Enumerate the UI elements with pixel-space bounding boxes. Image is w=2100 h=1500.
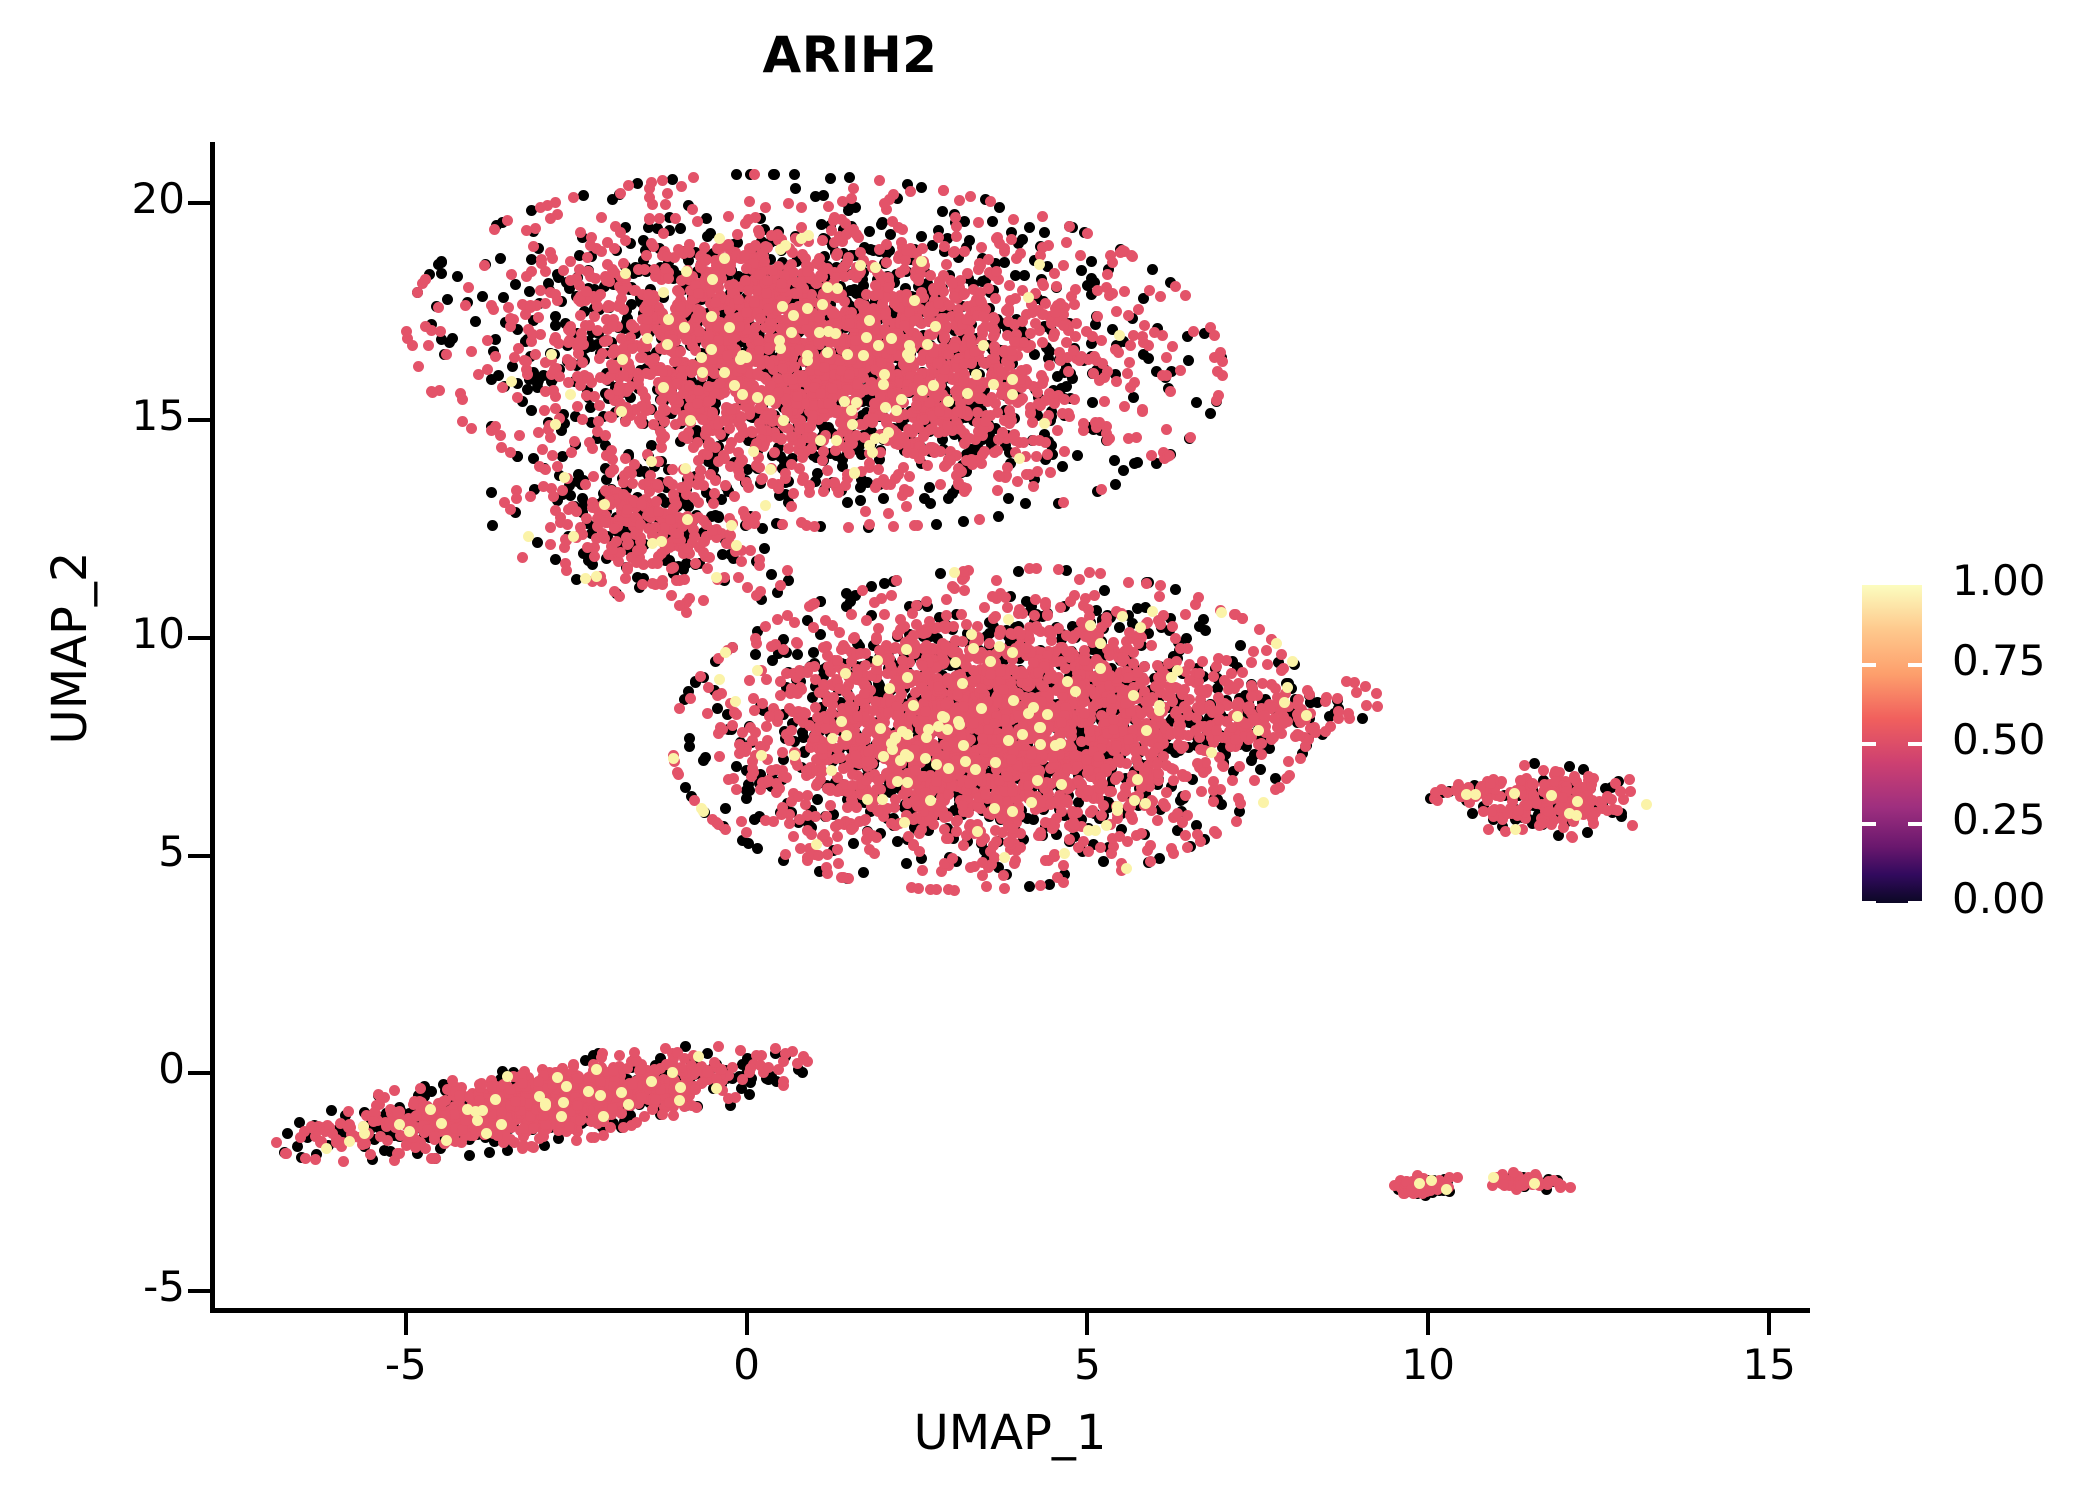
scatter-point	[739, 250, 750, 261]
scatter-point	[635, 519, 646, 530]
scatter-point	[1128, 392, 1139, 403]
scatter-point	[670, 213, 681, 224]
scatter-points-layer	[215, 142, 1810, 1308]
scatter-point	[1008, 432, 1019, 443]
scatter-point	[693, 288, 704, 299]
scatter-point	[855, 260, 866, 271]
scatter-point	[584, 320, 595, 331]
scatter-point	[749, 705, 760, 716]
scatter-point	[658, 228, 669, 239]
scatter-point	[886, 333, 897, 344]
scatter-point	[587, 443, 598, 454]
scatter-point	[742, 582, 753, 593]
scatter-point	[1175, 365, 1186, 376]
scatter-point	[700, 255, 711, 266]
scatter-point	[688, 172, 699, 183]
scatter-point	[651, 496, 662, 507]
scatter-point	[547, 450, 558, 461]
scatter-point	[943, 349, 954, 360]
scatter-point	[1003, 493, 1014, 504]
scatter-point	[905, 186, 916, 197]
scatter-point	[765, 464, 776, 475]
scatter-point	[1007, 374, 1018, 385]
scatter-point	[959, 246, 970, 257]
scatter-point	[786, 431, 797, 442]
scatter-point	[427, 387, 438, 398]
scatter-point	[702, 563, 713, 574]
scatter-point	[577, 357, 588, 368]
scatter-point	[618, 477, 629, 488]
scatter-point	[823, 201, 834, 212]
scatter-point	[766, 230, 777, 241]
scatter-point	[1082, 228, 1093, 239]
scatter-point	[747, 427, 758, 438]
scatter-point	[883, 282, 894, 293]
scatter-point	[596, 246, 607, 257]
scatter-point	[575, 227, 586, 238]
scatter-point	[675, 223, 686, 234]
scatter-point	[754, 228, 765, 239]
scatter-point	[972, 826, 983, 837]
scatter-point	[658, 287, 669, 298]
scatter-point	[1039, 227, 1050, 238]
scatter-point	[687, 204, 698, 215]
scatter-point	[947, 278, 958, 289]
scatter-point	[1052, 425, 1063, 436]
scatter-point	[586, 232, 597, 243]
scatter-point	[596, 212, 607, 223]
scatter-point	[1008, 214, 1019, 225]
scatter-point	[1185, 432, 1196, 443]
scatter-point	[880, 402, 891, 413]
scatter-point	[660, 199, 671, 210]
scatter-point	[843, 522, 854, 533]
scatter-point	[517, 552, 528, 563]
scatter-point	[819, 362, 830, 373]
scatter-point	[974, 514, 985, 525]
scatter-point	[822, 347, 833, 358]
scatter-point	[954, 195, 965, 206]
umap-feature-plot: ARIH2 20151050-5 -5051015 UMAP_1 UMAP_2 …	[0, 0, 2100, 1500]
scatter-point	[792, 391, 803, 402]
scatter-point	[822, 282, 833, 293]
scatter-point	[589, 551, 600, 562]
scatter-point	[1248, 646, 1259, 657]
scatter-point	[844, 172, 855, 183]
scatter-point	[452, 271, 463, 282]
scatter-point	[685, 415, 696, 426]
scatter-point	[1212, 366, 1223, 377]
scatter-point	[1157, 370, 1168, 381]
scatter-point	[707, 407, 718, 418]
scatter-point	[561, 565, 572, 576]
scatter-point	[1058, 497, 1069, 508]
scatter-point	[978, 340, 989, 351]
scatter-point	[632, 178, 643, 189]
plot-title: ARIH2	[0, 26, 1700, 84]
scatter-point	[593, 416, 604, 427]
scatter-point	[535, 202, 546, 213]
scatter-point	[1129, 377, 1140, 388]
scatter-point	[713, 512, 724, 523]
scatter-point	[636, 401, 647, 412]
scatter-point	[985, 196, 996, 207]
scatter-point	[874, 175, 885, 186]
scatter-point	[1048, 331, 1059, 342]
scatter-point	[1018, 437, 1029, 448]
scatter-point	[550, 403, 561, 414]
scatter-point	[932, 358, 943, 369]
scatter-point	[994, 202, 1005, 213]
scatter-point	[775, 343, 786, 354]
scatter-point	[620, 235, 631, 246]
scatter-point	[743, 482, 754, 493]
scatter-point	[839, 271, 850, 282]
scatter-point	[466, 346, 477, 357]
scatter-point	[722, 350, 733, 361]
scatter-point	[968, 643, 979, 654]
scatter-point	[1128, 690, 1139, 701]
scatter-point	[528, 241, 539, 252]
scatter-point	[420, 274, 431, 285]
scatter-point	[590, 273, 601, 284]
scatter-point	[822, 465, 833, 476]
scatter-point	[609, 243, 620, 254]
scatter-point	[817, 271, 828, 282]
scatter-point	[488, 304, 499, 315]
scatter-point	[958, 516, 969, 527]
scatter-point	[841, 730, 852, 741]
scatter-point	[775, 580, 786, 591]
scatter-point	[864, 519, 875, 530]
scatter-point	[1076, 265, 1087, 276]
scatter-point	[1092, 311, 1103, 322]
scatter-point	[927, 442, 938, 453]
scatter-point	[1102, 435, 1113, 446]
scatter-point	[1021, 469, 1032, 480]
scatter-point	[1094, 417, 1105, 428]
scatter-point	[992, 485, 1003, 496]
scatter-point	[941, 259, 952, 270]
scatter-point	[662, 339, 673, 350]
scatter-point	[851, 397, 862, 408]
scatter-point	[912, 420, 923, 431]
scatter-point	[1170, 281, 1181, 292]
scatter-point	[830, 445, 841, 456]
scatter-point	[550, 419, 561, 430]
scatter-point	[656, 428, 667, 439]
scatter-point	[673, 244, 684, 255]
scatter-point	[817, 455, 828, 466]
scatter-point	[1144, 285, 1155, 296]
scatter-point	[657, 175, 668, 186]
scatter-point	[842, 497, 853, 508]
scatter-point	[726, 437, 737, 448]
scatter-point	[763, 303, 774, 314]
scatter-point	[1304, 689, 1315, 700]
scatter-point	[959, 288, 970, 299]
scatter-point	[602, 335, 613, 346]
scatter-point	[670, 528, 681, 539]
scatter-point	[1028, 481, 1039, 492]
scatter-point	[879, 198, 890, 209]
scatter-point	[1075, 250, 1086, 261]
scatter-point	[620, 416, 631, 427]
scatter-point	[646, 177, 657, 188]
scatter-point	[786, 501, 797, 512]
scatter-point	[731, 169, 742, 180]
scatter-point	[1064, 221, 1075, 232]
scatter-point	[967, 459, 978, 470]
scatter-point	[1107, 288, 1118, 299]
scatter-point	[840, 480, 851, 491]
scatter-point	[888, 521, 899, 532]
scatter-point	[599, 499, 610, 510]
scatter-point	[864, 315, 875, 326]
scatter-point	[851, 430, 862, 441]
scatter-point	[1188, 326, 1199, 337]
scatter-point	[493, 370, 504, 381]
scatter-point	[698, 480, 709, 491]
scatter-point	[1086, 256, 1097, 267]
scatter-point	[861, 615, 872, 626]
scatter-point	[864, 226, 875, 237]
scatter-point	[945, 455, 956, 466]
scatter-point	[1109, 455, 1120, 466]
scatter-point	[703, 381, 714, 392]
scatter-point	[1092, 285, 1103, 296]
scatter-point	[789, 361, 800, 372]
scatter-point	[1004, 280, 1015, 291]
scatter-point	[1072, 450, 1083, 461]
scatter-point	[510, 279, 521, 290]
scatter-point	[1102, 269, 1113, 280]
scatter-point	[1070, 284, 1081, 295]
scatter-point	[752, 368, 763, 379]
scatter-point	[477, 291, 488, 302]
scatter-point	[644, 192, 655, 203]
scatter-point	[1180, 290, 1191, 301]
scatter-point	[562, 519, 573, 530]
scatter-point	[608, 363, 619, 374]
scatter-point	[811, 258, 822, 269]
scatter-point	[565, 389, 576, 400]
scatter-point	[730, 696, 741, 707]
scatter-point	[1191, 397, 1202, 408]
scatter-point	[506, 376, 517, 387]
scatter-point	[759, 256, 770, 267]
scatter-point	[1003, 306, 1014, 317]
scatter-point	[617, 354, 628, 365]
scatter-point	[1010, 270, 1021, 281]
scatter-point	[1099, 396, 1110, 407]
scatter-point	[992, 232, 1003, 243]
scatter-point	[990, 293, 1001, 304]
scatter-point	[797, 452, 808, 463]
scatter-point	[545, 213, 556, 224]
scatter-point	[743, 285, 754, 296]
scatter-point	[455, 388, 466, 399]
scatter-point	[1040, 298, 1051, 309]
scatter-point	[505, 447, 516, 458]
scatter-point	[983, 283, 994, 294]
scatter-point	[999, 257, 1010, 268]
scatter-point	[698, 515, 709, 526]
scatter-point	[540, 464, 551, 475]
scatter-point	[689, 531, 700, 542]
scatter-point	[783, 198, 794, 209]
scatter-point	[545, 432, 556, 443]
scatter-point	[566, 357, 577, 368]
scatter-point	[965, 191, 976, 202]
scatter-point	[766, 569, 777, 580]
scatter-point	[720, 480, 731, 491]
scatter-point	[831, 435, 842, 446]
scatter-point	[675, 346, 686, 357]
scatter-point	[637, 352, 648, 363]
scatter-point	[916, 256, 927, 267]
scatter-point	[790, 183, 801, 194]
scatter-point	[1133, 304, 1144, 315]
scatter-point	[723, 211, 734, 222]
scatter-point	[614, 299, 625, 310]
scatter-point	[433, 259, 444, 270]
scatter-point	[711, 572, 722, 583]
scatter-point	[909, 295, 920, 306]
scatter-point	[789, 169, 800, 180]
scatter-point	[688, 442, 699, 453]
scatter-point	[576, 328, 587, 339]
scatter-point	[948, 247, 959, 258]
scatter-point	[1042, 449, 1053, 460]
scatter-point	[1037, 278, 1048, 289]
scatter-point	[470, 316, 481, 327]
scatter-point	[977, 449, 988, 460]
scatter-point	[886, 590, 897, 601]
scatter-point	[495, 253, 506, 264]
scatter-point	[734, 470, 745, 481]
scatter-point	[433, 302, 444, 313]
x-axis-spine	[210, 1308, 1810, 1313]
scatter-point	[667, 464, 678, 475]
scatter-point	[1069, 299, 1080, 310]
scatter-point	[618, 258, 629, 269]
scatter-point	[706, 311, 717, 322]
scatter-point	[987, 216, 998, 227]
scatter-point	[956, 609, 967, 620]
scatter-point	[1058, 320, 1069, 331]
scatter-point	[752, 392, 763, 403]
scatter-point	[539, 405, 550, 416]
scatter-point	[836, 716, 847, 727]
scatter-point	[939, 333, 950, 344]
scatter-point	[558, 265, 569, 276]
scatter-point	[796, 202, 807, 213]
scatter-point	[837, 196, 848, 207]
scatter-point	[943, 763, 954, 774]
scatter-point	[530, 349, 541, 360]
scatter-point	[842, 256, 853, 267]
scatter-point	[566, 447, 577, 458]
scatter-point	[976, 242, 987, 253]
scatter-point	[1034, 259, 1045, 270]
scatter-point	[826, 225, 837, 236]
scatter-point	[460, 300, 471, 311]
scatter-point	[937, 206, 948, 217]
scatter-point	[861, 332, 872, 343]
scatter-point	[490, 351, 501, 362]
scatter-point	[1009, 319, 1020, 330]
scatter-point	[506, 269, 517, 280]
scatter-point	[511, 493, 522, 504]
scatter-point	[649, 353, 660, 364]
scatter-point	[1015, 248, 1026, 259]
scatter-point	[860, 506, 871, 517]
scatter-point	[812, 794, 823, 805]
scatter-point	[569, 436, 580, 447]
scatter-point	[1161, 352, 1172, 363]
scatter-point	[755, 313, 766, 324]
scatter-point	[778, 415, 789, 426]
scatter-point	[521, 356, 532, 367]
scatter-point	[588, 471, 599, 482]
scatter-point	[676, 181, 687, 192]
scatter-point	[764, 332, 775, 343]
scatter-point	[684, 593, 695, 604]
scatter-point	[681, 607, 692, 618]
scatter-point	[734, 458, 745, 469]
scatter-point	[924, 482, 935, 493]
scatter-point	[533, 312, 544, 323]
scatter-point	[495, 430, 506, 441]
scatter-point	[703, 396, 714, 407]
scatter-point	[1050, 307, 1061, 318]
scatter-point	[521, 271, 532, 282]
scatter-point	[815, 435, 826, 446]
scatter-point	[857, 585, 868, 596]
scatter-point	[1131, 432, 1142, 443]
scatter-point	[657, 366, 668, 377]
scatter-point	[1161, 424, 1172, 435]
scatter-point	[1119, 286, 1130, 297]
scatter-point	[903, 486, 914, 497]
scatter-point	[407, 340, 418, 351]
scatter-point	[825, 173, 836, 184]
scatter-point	[807, 410, 818, 421]
scatter-point	[1039, 418, 1050, 429]
scatter-point	[741, 827, 752, 838]
scatter-point	[675, 301, 686, 312]
scatter-point	[732, 229, 743, 240]
scatter-point	[999, 883, 1010, 894]
scatter-point	[697, 367, 708, 378]
scatter-point	[1143, 353, 1154, 364]
scatter-point	[916, 182, 927, 193]
scatter-point	[817, 235, 828, 246]
scatter-point	[883, 508, 894, 519]
scatter-point	[568, 192, 579, 203]
scatter-point	[680, 463, 691, 474]
scatter-point	[524, 286, 535, 297]
scatter-point	[489, 224, 500, 235]
scatter-point	[526, 405, 537, 416]
scatter-point	[750, 240, 761, 251]
scatter-point	[733, 572, 744, 583]
scatter-point	[842, 349, 853, 360]
scatter-point	[692, 216, 703, 227]
scatter-point	[537, 444, 548, 455]
scatter-point	[1096, 335, 1107, 346]
